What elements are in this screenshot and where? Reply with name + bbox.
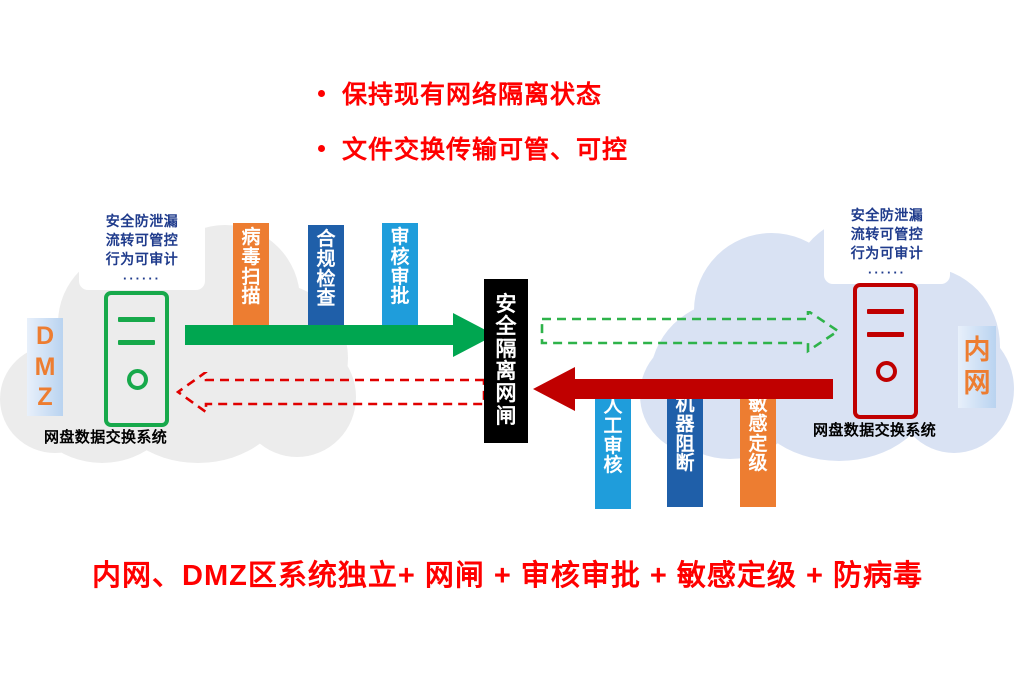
callout-left-line-2: 流转可管控 [86,231,198,250]
gateway-char-4: 离 [496,361,517,383]
zone-label-intranet: 内 网 [958,326,996,408]
chip-virus-scan-char-3: 扫 [241,268,260,288]
zone-dmz-char-1: D [36,321,54,352]
chip-compliance-check-char-1: 合 [316,230,335,250]
bullet-item-1: 保持现有网络隔离状态 [318,75,838,111]
bullet-dot-icon [318,90,325,97]
chip-approval-char-2: 核 [390,248,409,268]
callout-right-line-1: 安全防泄漏 [831,206,943,225]
arrow-inbound-red-solid [533,367,833,417]
server-led-icon [876,361,897,382]
callout-intranet-capabilities: 安全防泄漏 流转可管控 行为可审计 ······ [824,200,950,284]
summary-formula: 内网、DMZ区系统独立+ 网闸 + 审核审批 + 敏感定级 + 防病毒 [0,552,1015,594]
chip-sensitivity-grading-char-4: 级 [748,454,767,474]
chip-machine-block-char-3: 阻 [675,435,694,455]
chip-manual-review-char-2: 工 [603,417,622,437]
chip-machine-block-char-4: 断 [675,454,694,474]
chip-sensitivity-grading-char-3: 定 [748,435,767,455]
bullet-text-2: 文件交换传输可管、可控 [342,130,628,166]
chip-sensitivity-grading-char-2: 感 [748,415,767,435]
gateway-char-3: 隔 [496,339,517,361]
zone-dmz-char-3: Z [37,382,52,413]
callout-left-ellipsis: ······ [86,270,198,288]
callout-right-line-2: 流转可管控 [831,225,943,244]
gateway-char-2: 全 [496,316,517,338]
server-icon-dmz [104,291,169,427]
arrow-outbound-green-dashed [540,311,840,357]
zone-intranet-char-2: 网 [964,367,991,400]
bullet-item-2: 文件交换传输可管、可控 [318,130,838,166]
server-caption-intranet: 网盘数据交换系统 [813,419,936,440]
zone-dmz-char-2: M [35,352,56,383]
zone-intranet-char-1: 内 [964,334,991,367]
server-bar-icon [118,340,155,345]
arrow-outbound-green-solid [185,313,495,363]
chip-virus-scan-char-1: 病 [241,228,260,248]
zone-label-dmz: D M Z [27,318,63,416]
callout-right-line-3: 行为可审计 [831,244,943,263]
chip-approval-char-1: 审 [390,228,409,248]
bullet-dot-icon [318,145,325,152]
chip-machine-block-char-2: 器 [675,415,694,435]
server-icon-intranet [853,283,918,419]
chip-compliance-check-char-4: 查 [316,289,335,309]
security-gateway-box: 安 全 隔 离 网 闸 [484,279,528,443]
callout-dmz-capabilities: 安全防泄漏 流转可管控 行为可审计 ······ [79,206,205,290]
server-bar-icon [118,317,155,322]
server-led-icon [127,369,148,390]
chip-compliance-check-char-3: 检 [316,270,335,290]
callout-left-line-1: 安全防泄漏 [86,212,198,231]
server-bar-icon [867,309,904,314]
server-bar-icon [867,332,904,337]
arrow-inbound-red-dashed [176,372,486,418]
bullet-list: 保持现有网络隔离状态 文件交换传输可管、可控 [318,75,838,185]
server-caption-dmz: 网盘数据交换系统 [44,426,167,447]
diagram-canvas: 保持现有网络隔离状态 文件交换传输可管、可控 D M Z 内 网 [0,0,1015,675]
gateway-char-6: 闸 [496,406,517,428]
bullet-text-1: 保持现有网络隔离状态 [342,75,602,111]
chip-manual-review-char-3: 审 [603,437,622,457]
callout-right-ellipsis: ······ [831,264,943,282]
chip-compliance-check-char-2: 规 [316,250,335,270]
gateway-char-5: 网 [496,383,517,405]
chip-manual-review-char-4: 核 [603,456,622,476]
chip-approval-char-4: 批 [390,287,409,307]
chip-approval-char-3: 审 [390,268,409,288]
gateway-char-1: 安 [496,294,517,316]
callout-left-line-3: 行为可审计 [86,250,198,269]
chip-virus-scan-char-2: 毒 [241,248,260,268]
chip-virus-scan-char-4: 描 [241,287,260,307]
